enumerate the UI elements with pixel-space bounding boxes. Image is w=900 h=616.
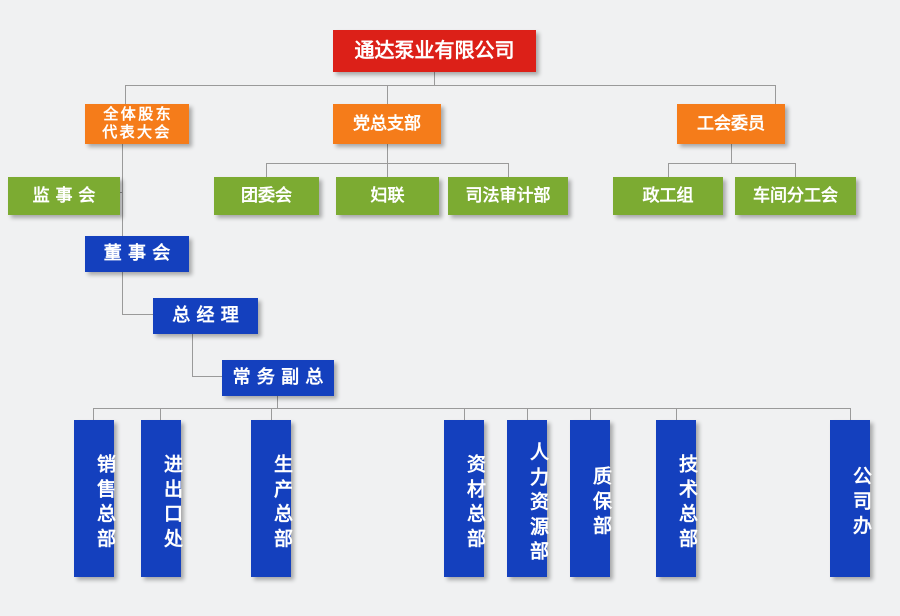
node-political-work-group[interactable]: 政工组 (613, 177, 723, 215)
org-chart: 通达泵业有限公司 全体股东 代表大会 党总支部 工会委员 监 事 会 团委会 妇… (0, 0, 900, 616)
connector-drop-company-office (850, 408, 851, 420)
node-union-committee[interactable]: 工会委员 (677, 104, 785, 144)
node-womens-federation[interactable]: 妇联 (336, 177, 439, 215)
connector-union-stem (731, 144, 732, 163)
connector-drop-shareholders (125, 85, 126, 104)
connector-party-stem (387, 144, 388, 163)
connector-drop-union (775, 85, 776, 104)
node-quality-assurance-department[interactable]: 质保部 (570, 420, 610, 577)
connector-drop-womens-federation (387, 163, 388, 177)
connector-gm-to-vice (192, 376, 223, 377)
node-youth-league[interactable]: 团委会 (214, 177, 319, 215)
node-shareholders-assembly[interactable]: 全体股东 代表大会 (85, 104, 189, 144)
node-workshop-union[interactable]: 车间分工会 (735, 177, 856, 215)
connector-company-stem (434, 72, 435, 86)
connector-drop-youth-league (266, 163, 267, 177)
connector-gm-stem (192, 334, 193, 376)
node-human-resources-department[interactable]: 人力资源部 (507, 420, 547, 577)
node-sales-department[interactable]: 销售总部 (74, 420, 114, 577)
connector-departments-bus (93, 408, 850, 409)
node-company[interactable]: 通达泵业有限公司 (333, 30, 536, 72)
connector-union-bus (668, 163, 795, 164)
node-executive-vice-manager[interactable]: 常 务 副 总 (222, 360, 334, 396)
node-technology-department[interactable]: 技术总部 (656, 420, 696, 577)
connector-drop-judicial-audit (508, 163, 509, 177)
node-import-export-office[interactable]: 进出口处 (141, 420, 181, 577)
connector-drop-party (387, 85, 388, 104)
node-materials-department[interactable]: 资材总部 (444, 420, 484, 577)
connector-drop-materials (464, 408, 465, 420)
node-board-of-directors[interactable]: 董 事 会 (85, 236, 189, 272)
node-supervisory-board[interactable]: 监 事 会 (8, 177, 120, 215)
connector-drop-workshop-union (795, 163, 796, 177)
node-general-manager[interactable]: 总 经 理 (153, 298, 258, 334)
connector-drop-sales (93, 408, 94, 420)
connector-drop-technology (676, 408, 677, 420)
connector-drop-political-work (668, 163, 669, 177)
connector-drop-quality (590, 408, 591, 420)
connector-drop-human-resources (527, 408, 528, 420)
connector-drop-import-export (160, 408, 161, 420)
node-party-branch[interactable]: 党总支部 (333, 104, 441, 144)
node-production-department[interactable]: 生产总部 (251, 420, 291, 577)
connector-vice-stem (277, 396, 278, 408)
connector-drop-production (271, 408, 272, 420)
connector-level2-bus (125, 85, 776, 86)
connector-board-stem (122, 272, 123, 314)
connector-board-to-gm (122, 314, 154, 315)
connector-shareholders-to-board (122, 144, 123, 236)
node-company-office[interactable]: 公司办 (830, 420, 870, 577)
node-judicial-audit[interactable]: 司法审计部 (448, 177, 568, 215)
